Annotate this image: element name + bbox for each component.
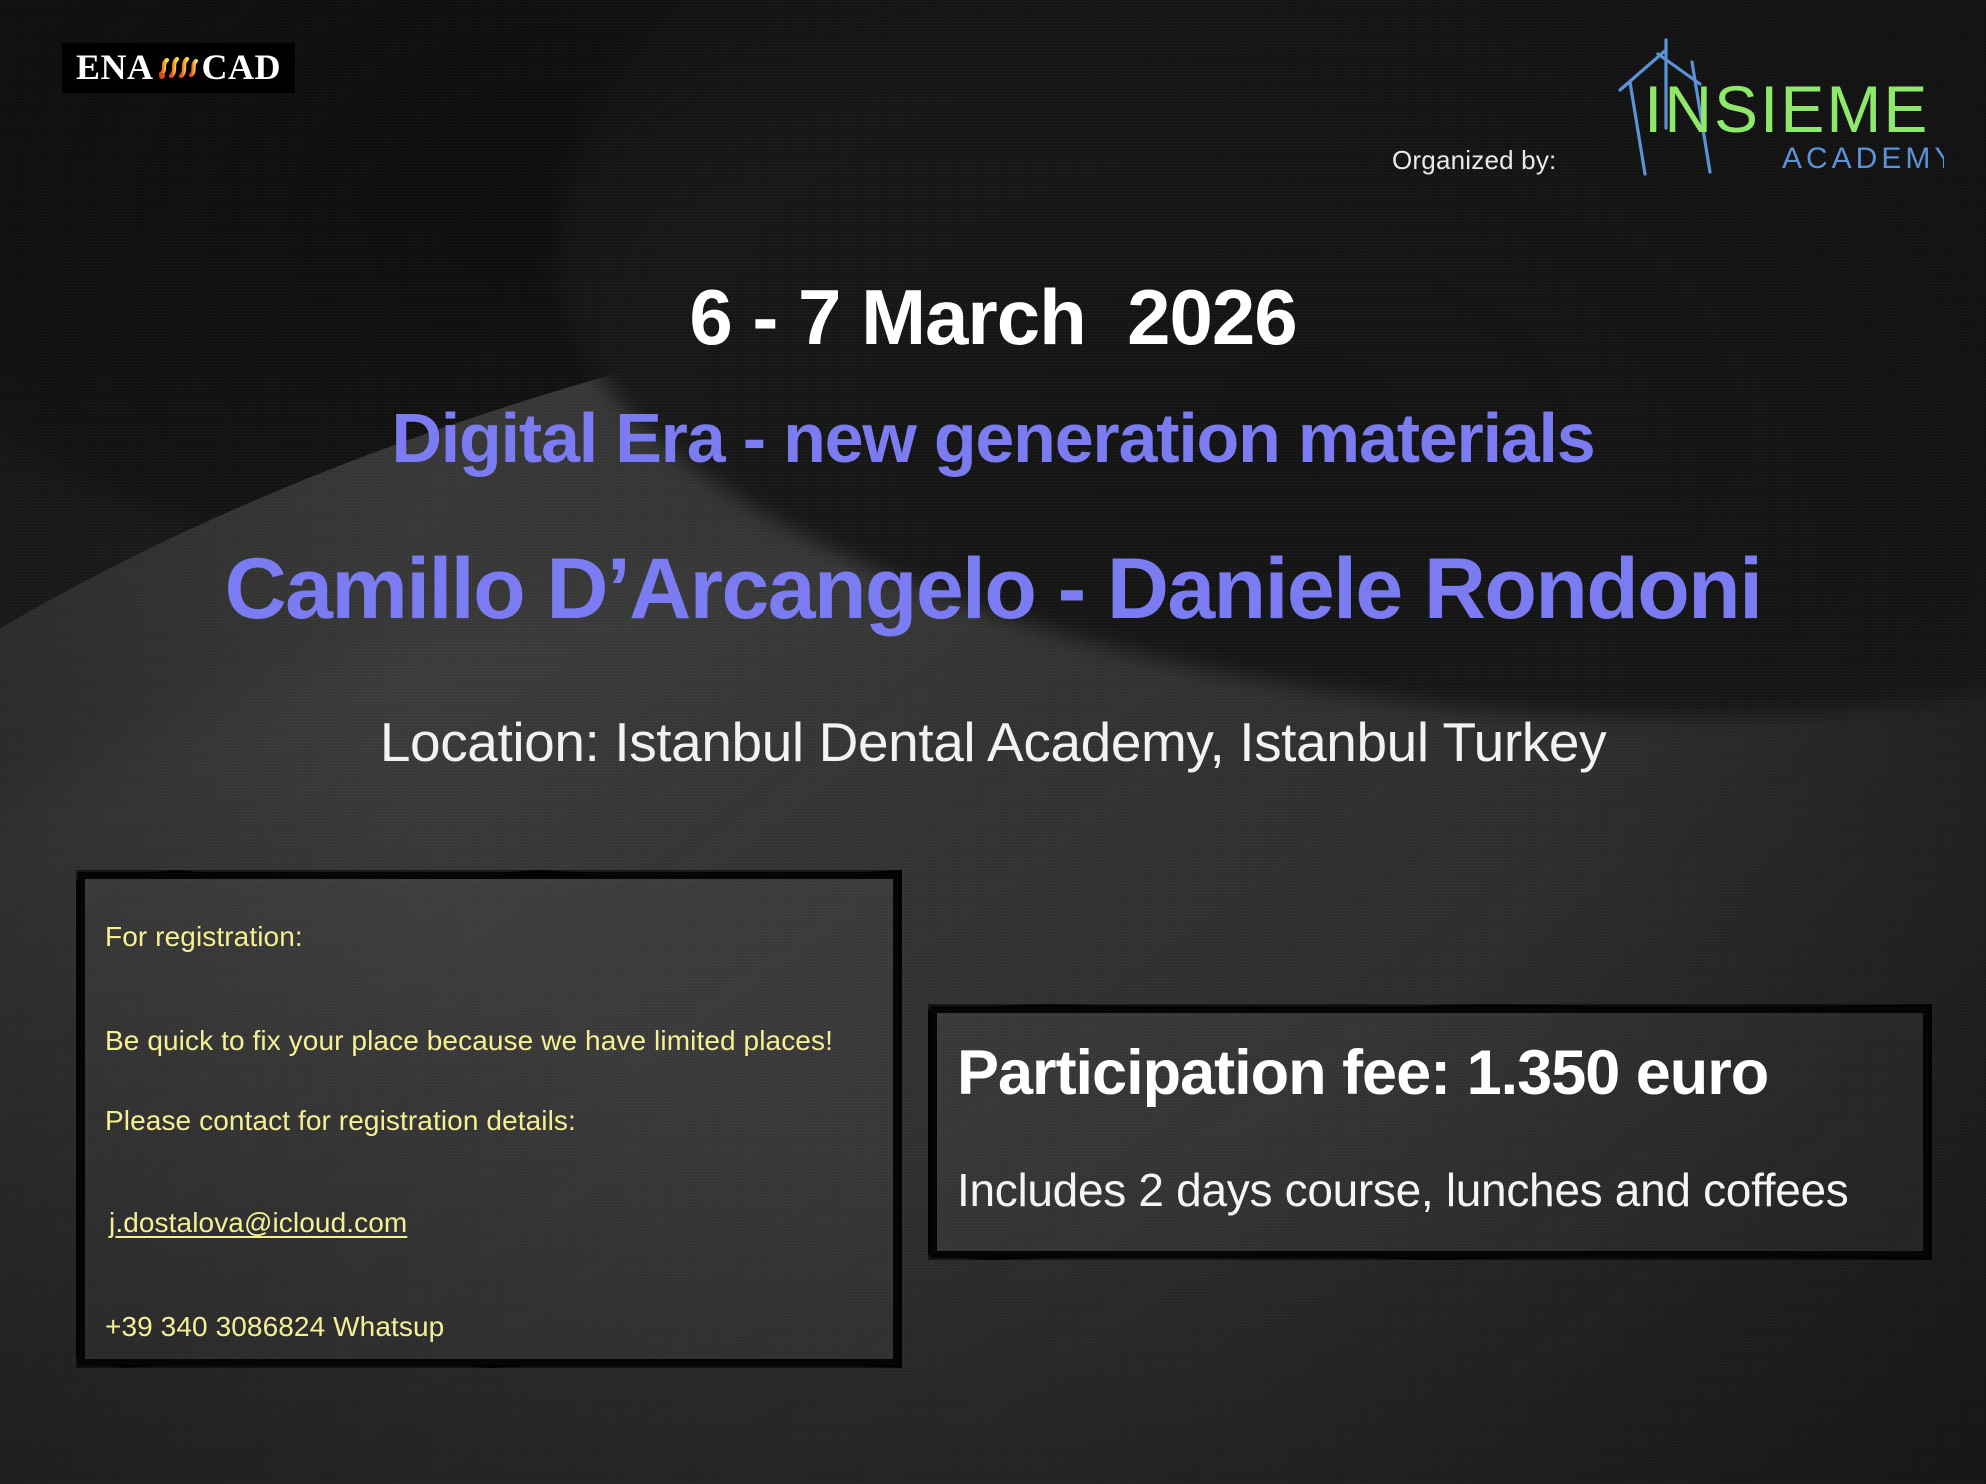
registration-phone-whatsapp[interactable]: +39 340 3086824 Whatsup: [105, 1311, 444, 1343]
enacad-logo-right-text: CAD: [202, 49, 282, 85]
academy-wordmark: ACADEMY: [1782, 142, 1944, 175]
enacad-logo-left-text: ENA: [76, 49, 154, 85]
insieme-academy-logo: INSIEME ACADEMY: [1614, 32, 1944, 182]
participation-fee-includes: Includes 2 days course, lunches and coff…: [957, 1163, 1849, 1217]
insieme-wordmark: INSIEME: [1644, 72, 1929, 146]
registration-contact-prompt: Please contact for registration details:: [105, 1105, 576, 1137]
enacad-logo: ENA CAD: [62, 43, 295, 93]
event-location: Location: Istanbul Dental Academy, Istan…: [0, 710, 1986, 774]
event-poster: ENA CAD: [0, 0, 1986, 1484]
registration-email-link[interactable]: j.dostalova@icloud.com: [109, 1207, 407, 1239]
event-speakers: Camillo D’Arcangelo - Daniele Rondoni: [0, 540, 1986, 639]
registration-box: For registration: Be quick to fix your p…: [78, 872, 900, 1366]
registration-heading: For registration:: [105, 921, 303, 953]
event-date: 6 - 7 March 2026: [0, 272, 1986, 363]
flame-wave-icon: [157, 50, 199, 84]
registration-urgency-note: Be quick to fix your place because we ha…: [105, 1025, 833, 1057]
participation-fee-box: Participation fee: 1.350 euro Includes 2…: [930, 1006, 1930, 1258]
organized-by-label: Organized by:: [1392, 145, 1556, 176]
participation-fee-amount: Participation fee: 1.350 euro: [957, 1037, 1768, 1109]
event-title: Digital Era - new generation materials: [0, 398, 1986, 478]
